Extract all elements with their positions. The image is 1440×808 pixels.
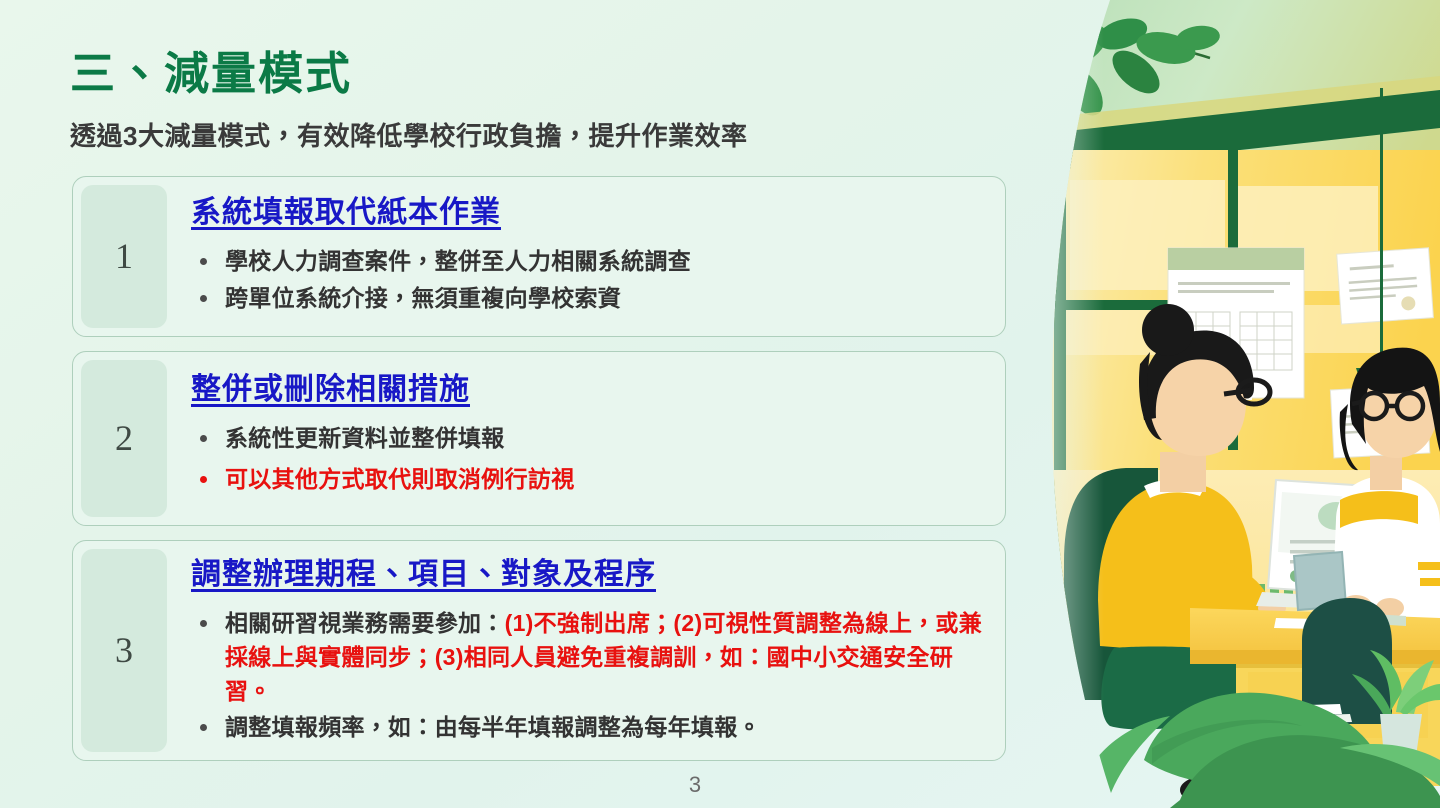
list-item: 跨單位系統介接，無須重複向學校索資	[191, 281, 987, 316]
card-body: 調整辦理期程、項目、對象及程序 相關研習視業務需要參加：(1)不強制出席；(2)…	[167, 541, 1005, 760]
card-body: 系統填報取代紙本作業 學校人力調查案件，整併至人力相關系統調查 跨單位系統介接，…	[167, 177, 1005, 336]
slide-header: 三、減量模式 透過3大減量模式，有效降低學校行政負擔，提升作業效率	[70, 48, 1030, 153]
card-number-badge: 3	[81, 549, 167, 752]
illustration-scene	[1040, 0, 1440, 808]
edge-fade	[1040, 0, 1104, 808]
mode-card-3[interactable]: 3 調整辦理期程、項目、對象及程序 相關研習視業務需要參加：(1)不強制出席；(…	[72, 540, 1006, 761]
card-bullet-list: 學校人力調查案件，整併至人力相關系統調查 跨單位系統介接，無須重複向學校索資	[191, 244, 987, 316]
card-bullet-list: 相關研習視業務需要參加：(1)不強制出席；(2)可視性質調整為線上，或兼採線上與…	[191, 606, 987, 744]
card-heading[interactable]: 系統填報取代紙本作業	[191, 193, 501, 232]
card-bullet-list: 系統性更新資料並整併填報 可以其他方式取代則取消例行訪視	[191, 421, 987, 497]
hair-bun	[1142, 304, 1194, 356]
card-heading[interactable]: 調整辦理期程、項目、對象及程序	[191, 555, 656, 594]
list-item: 學校人力調查案件，整併至人力相關系統調查	[191, 244, 987, 279]
card-number-badge: 2	[81, 360, 167, 517]
mode-card-1[interactable]: 1 系統填報取代紙本作業 學校人力調查案件，整併至人力相關系統調查 跨單位系統介…	[72, 176, 1006, 337]
card-body: 整併或刪除相關措施 系統性更新資料並整併填報 可以其他方式取代則取消例行訪視	[167, 352, 1005, 525]
card-number-badge: 1	[81, 185, 167, 328]
slide-root: 三、減量模式 透過3大減量模式，有效降低學校行政負擔，提升作業效率 1 系統填報…	[0, 0, 1440, 808]
list-item-highlighted: 可以其他方式取代則取消例行訪視	[191, 462, 987, 497]
mode-card-2[interactable]: 2 整併或刪除相關措施 系統性更新資料並整併填報 可以其他方式取代則取消例行訪視	[72, 351, 1006, 526]
list-item: 系統性更新資料並整併填報	[191, 421, 987, 456]
list-item: 調整填報頻率，如：由每半年填報調整為每年填報。	[191, 710, 987, 744]
card-heading[interactable]: 整併或刪除相關措施	[191, 370, 470, 409]
card-list: 1 系統填報取代紙本作業 學校人力調查案件，整併至人力相關系統調查 跨單位系統介…	[72, 176, 1006, 761]
list-item-lead: 相關研習視業務需要參加：	[225, 610, 505, 636]
list-item: 相關研習視業務需要參加：(1)不強制出席；(2)可視性質調整為線上，或兼採線上與…	[191, 606, 987, 708]
page-title: 三、減量模式	[70, 48, 1030, 100]
wall-certificate	[1337, 248, 1434, 324]
office-illustration	[1040, 0, 1440, 808]
page-subtitle: 透過3大減量模式，有效降低學校行政負擔，提升作業效率	[70, 116, 1030, 153]
